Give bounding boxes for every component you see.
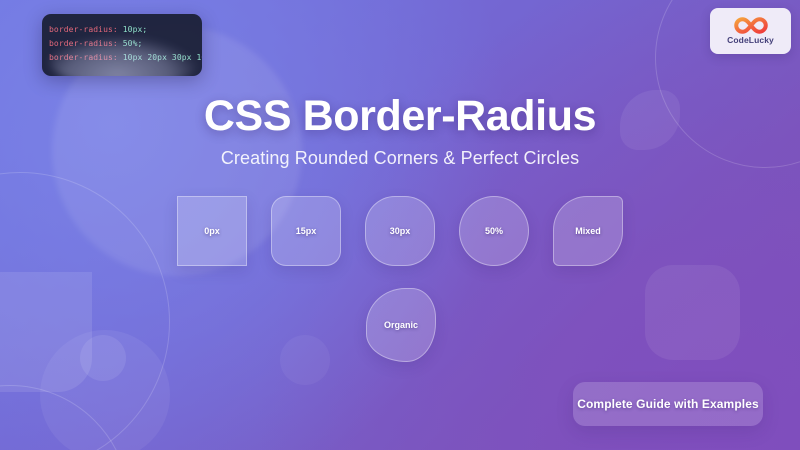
page-title: CSS Border-Radius — [0, 92, 800, 141]
logo-text: CodeLucky — [727, 35, 774, 45]
demo-label: 0px — [204, 226, 220, 236]
radius-demo-row: 0px 15px 30px 50% Mixed — [0, 196, 800, 266]
bg-blob-right-lower — [645, 265, 740, 360]
complete-guide-badge[interactable]: Complete Guide with Examples — [573, 382, 763, 426]
demo-label: Mixed — [575, 226, 601, 236]
demo-label: 15px — [296, 226, 317, 236]
page-subtitle: Creating Rounded Corners & Perfect Circl… — [0, 148, 800, 169]
demo-shape-15px[interactable]: 15px — [271, 196, 341, 266]
demo-shape-mixed[interactable]: Mixed — [553, 196, 623, 266]
code-line: border-radius: 10px; — [49, 23, 202, 37]
demo-label: 30px — [390, 226, 411, 236]
complete-guide-label: Complete Guide with Examples — [577, 397, 759, 411]
demo-shape-50pct[interactable]: 50% — [459, 196, 529, 266]
bg-square-left — [0, 272, 92, 392]
demo-shape-30px[interactable]: 30px — [365, 196, 435, 266]
css-code-card: border-radius: 10px; border-radius: 50%;… — [42, 14, 202, 76]
demo-label: 50% — [485, 226, 503, 236]
code-value: 10px; — [123, 25, 148, 34]
demo-label: Organic — [384, 320, 418, 330]
demo-shape-0px[interactable]: 0px — [177, 196, 247, 266]
bg-circle-small — [80, 335, 126, 381]
code-property: border-radius: — [49, 25, 118, 34]
demo-shape-organic[interactable]: Organic — [366, 288, 436, 362]
bg-dot-center — [280, 335, 330, 385]
slide-canvas: border-radius: 10px; border-radius: 50%;… — [0, 0, 800, 450]
infinity-icon — [734, 17, 768, 34]
bg-ring-lower-left — [0, 385, 130, 450]
codelucky-logo-badge[interactable]: CodeLucky — [710, 8, 791, 54]
bg-circle-medium — [40, 330, 170, 450]
